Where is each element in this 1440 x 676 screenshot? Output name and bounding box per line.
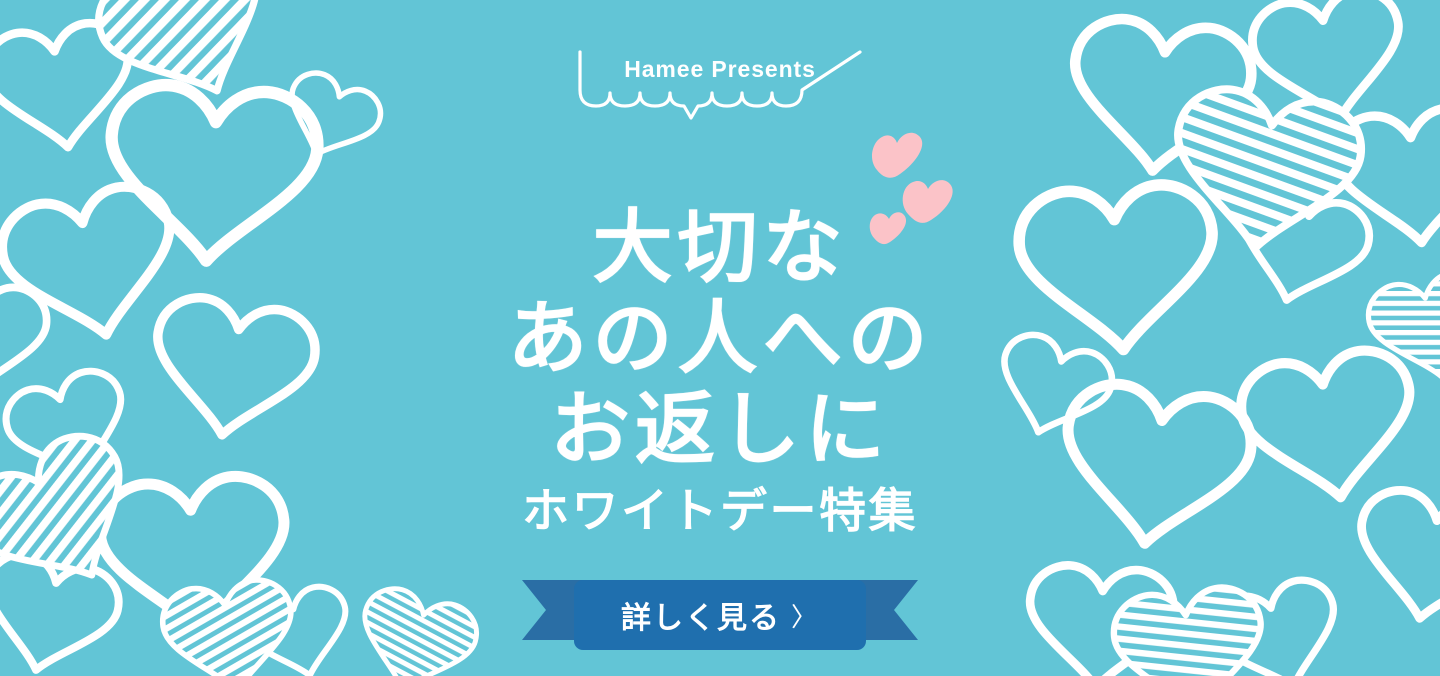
pink-hearts-decoration xyxy=(862,122,962,250)
heart-icon xyxy=(872,133,922,178)
heart-icon xyxy=(870,212,906,244)
eyebrow-badge: Hamee Presents xyxy=(570,44,870,122)
view-details-button[interactable]: 詳しく見る 〉 xyxy=(574,580,866,650)
heart-icon xyxy=(903,180,953,223)
chevron-right-icon: 〉 xyxy=(791,597,819,634)
headline-line-3: お返しに xyxy=(0,384,1440,475)
cta-ribbon: 詳しく見る 〉 xyxy=(520,572,920,656)
subtitle: ホワイトデー特集 xyxy=(0,472,1440,541)
eyebrow-label: Hamee Presents xyxy=(570,56,870,83)
headline-line-2: あの人への xyxy=(0,293,1440,384)
cta-label: 詳しく見る xyxy=(621,593,781,637)
white-day-promo-banner: Hamee Presents 大切な あの人への お返しに ホワイトデー特集 詳… xyxy=(0,0,1440,676)
headline-line-1: 大切な xyxy=(0,202,1440,293)
headline: 大切な あの人への お返しに xyxy=(0,202,1440,476)
